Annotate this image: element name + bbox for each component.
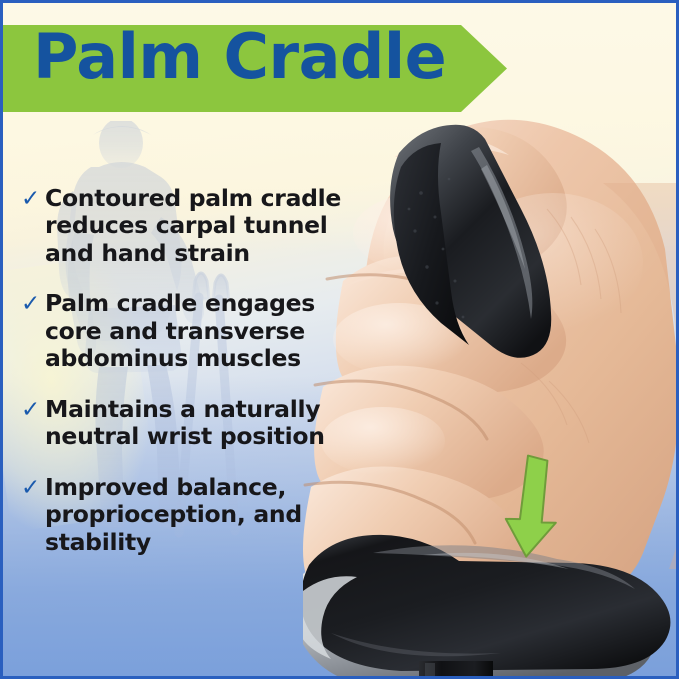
list-item: ✓ Contoured palm cradle reduces carpal t… — [21, 185, 351, 267]
check-icon: ✓ — [21, 399, 45, 422]
check-icon: ✓ — [21, 293, 45, 316]
list-item-label: Improved balance, proprioception, and st… — [45, 474, 351, 556]
list-item-label: Maintains a naturally neutral wrist posi… — [45, 396, 351, 451]
infographic-canvas: Palm Cradle ✓ Contoured palm cradle redu… — [0, 0, 679, 679]
check-icon: ✓ — [21, 188, 45, 211]
list-item: ✓ Maintains a naturally neutral wrist po… — [21, 396, 351, 451]
page-title: Palm Cradle — [33, 26, 446, 88]
list-item: ✓ Palm cradle engages core and transvers… — [21, 290, 351, 372]
benefits-list: ✓ Contoured palm cradle reduces carpal t… — [21, 185, 351, 579]
product-photo-hand-on-cane — [303, 113, 679, 679]
list-item-label: Palm cradle engages core and transverse … — [45, 290, 351, 372]
list-item: ✓ Improved balance, proprioception, and … — [21, 474, 351, 556]
list-item-label: Contoured palm cradle reduces carpal tun… — [45, 185, 351, 267]
check-icon: ✓ — [21, 477, 45, 500]
